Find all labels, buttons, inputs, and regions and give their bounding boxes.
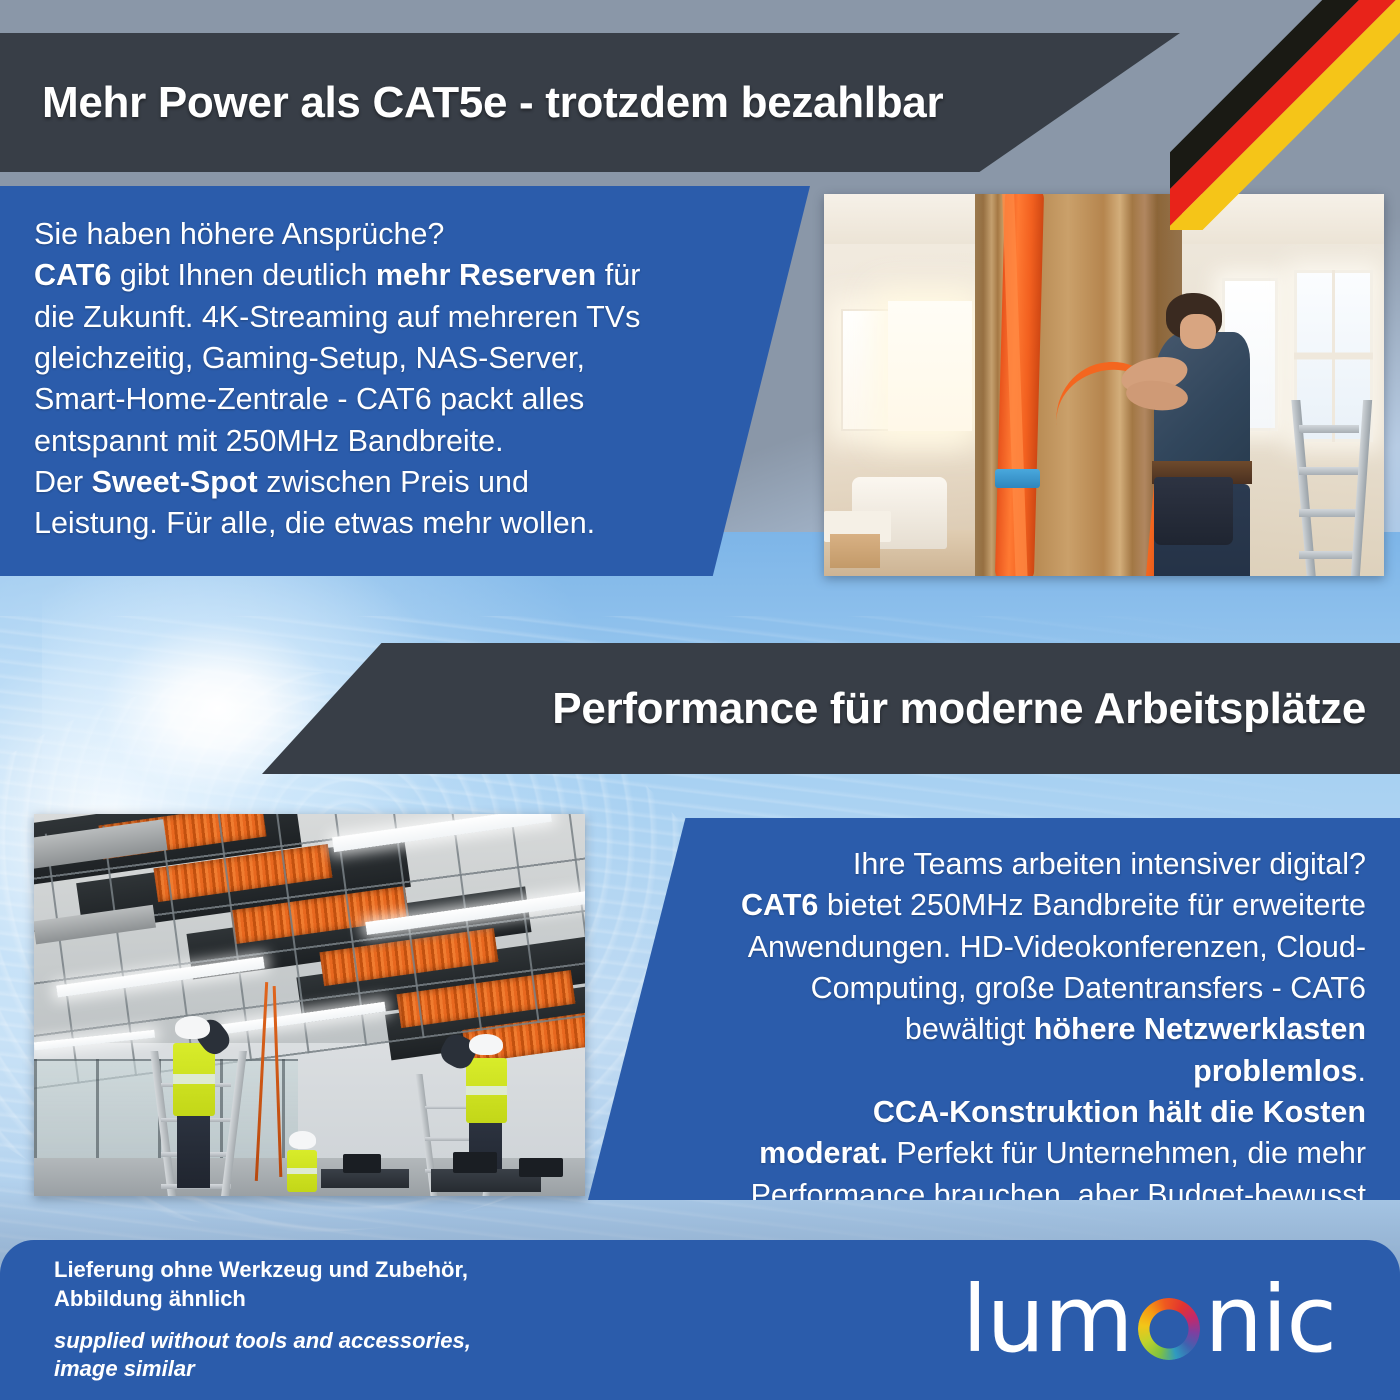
disclaimer-german-line1: Lieferung ohne Werkzeug und Zubehör, [54,1256,471,1285]
photo1-toolbox [830,534,880,568]
section1-paragraph: Sie haben höhere Ansprüche?CAT6 gibt Ihn… [34,214,660,545]
section2-photo-office-installation [34,814,585,1196]
logo-text-part2: nic [1205,1274,1336,1366]
photo2-monitor [453,1152,497,1173]
german-flag-ribbon-icon [1170,0,1400,230]
disclaimer-german-line2: Abbildung ähnlich [54,1285,471,1314]
disclaimer-english-line2: image similar [54,1355,471,1384]
photo1-window-left2 [888,301,972,431]
section2-title: Performance für moderne Arbeitsplätze [552,684,1366,734]
photo1-ladder-rung [1299,509,1359,517]
photo2-worker-left-helmet [175,1016,210,1039]
logo-color-ring-icon [1138,1298,1200,1360]
photo2-worker-left-vest [173,1043,215,1116]
photo1-ladder-rung [1299,467,1359,475]
lumonic-logo: lum nic [962,1274,1336,1366]
photo2-worker-right-vest [466,1058,507,1123]
photo2-worker-right-helmet [469,1034,503,1055]
footer-bar: Lieferung ohne Werkzeug und Zubehör, Abb… [0,1240,1400,1400]
photo1-ladder-rung [1299,551,1359,559]
section2-text-panel: Ihre Teams arbeiten intensiver digital?C… [588,818,1400,1200]
section1-photo-home-installation [824,194,1384,576]
photo1-technician-face [1180,314,1216,348]
section1-text-panel: Sie haben höhere Ansprüche?CAT6 gibt Ihn… [0,186,810,576]
section2-paragraph: Ihre Teams arbeiten intensiver digital?C… [738,844,1366,1257]
photo2-monitor [343,1154,382,1173]
disclaimer-block: Lieferung ohne Werkzeug und Zubehör, Abb… [54,1256,471,1383]
disclaimer-english-line1: supplied without tools and accessories, [54,1327,471,1356]
disclaimer-english: supplied without tools and accessories, … [54,1327,471,1384]
section2-banner: Performance für moderne Arbeitsplätze [262,643,1400,774]
photo1-tool-pouch [1154,477,1232,546]
photo1-cable-clip [995,469,1040,488]
section1-title: Mehr Power als CAT5e - trotzdem bezahlba… [42,78,943,128]
photo1-ladder-rung [1299,425,1359,433]
section1-banner: Mehr Power als CAT5e - trotzdem bezahlba… [0,33,1180,172]
disclaimer-german: Lieferung ohne Werkzeug und Zubehör, Abb… [54,1256,471,1313]
photo2-monitor [519,1158,563,1177]
photo2-supervisor-helmet [289,1131,317,1149]
photo2-worker-left-legs [177,1112,210,1188]
logo-text-part1: lum [962,1274,1133,1366]
photo2-supervisor-vest [287,1150,317,1192]
photo1-ladder [1294,400,1372,576]
